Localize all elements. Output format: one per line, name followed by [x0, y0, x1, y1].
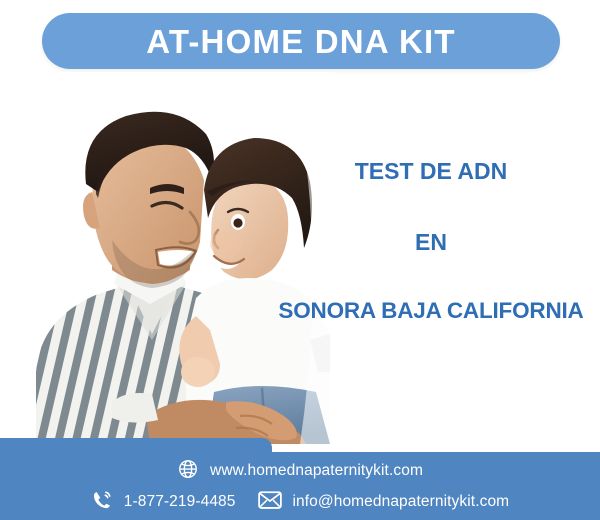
phone-label: 1-877-219-4485: [124, 493, 236, 511]
phone-item[interactable]: 1-877-219-4485: [91, 489, 236, 516]
child-eye-pupil: [233, 218, 242, 227]
footer-row-website: www.homednapaternitykit.com: [0, 456, 600, 486]
poster-title: AT-HOME DNA KIT: [146, 25, 455, 58]
envelope-icon: [258, 490, 282, 515]
child-hand: [181, 357, 215, 387]
man-sleeve: [112, 393, 158, 423]
poster-canvas: AT-HOME DNA KIT: [0, 0, 600, 520]
website-item[interactable]: www.homednapaternitykit.com: [177, 458, 423, 485]
headline-line-1: TEST DE ADN: [262, 160, 600, 183]
phone-icon: [91, 489, 113, 516]
footer-contact-info: www.homednapaternitykit.com 1-877-219-44…: [0, 452, 600, 520]
headline-line-3: SONORA BAJA CALIFORNIA: [262, 300, 600, 323]
title-banner-pill: AT-HOME DNA KIT: [42, 13, 560, 69]
website-label: www.homednapaternitykit.com: [210, 462, 423, 480]
email-item[interactable]: info@homednapaternitykit.com: [258, 490, 510, 515]
globe-icon: [177, 458, 199, 485]
footer-row-phone-email: 1-877-219-4485 info@homednapaternitykit.…: [0, 487, 600, 517]
email-label: info@homednapaternitykit.com: [293, 493, 510, 511]
headline-line-2: EN: [262, 231, 600, 254]
headline-block: TEST DE ADN EN SONORA BAJA CALIFORNIA: [262, 160, 600, 323]
